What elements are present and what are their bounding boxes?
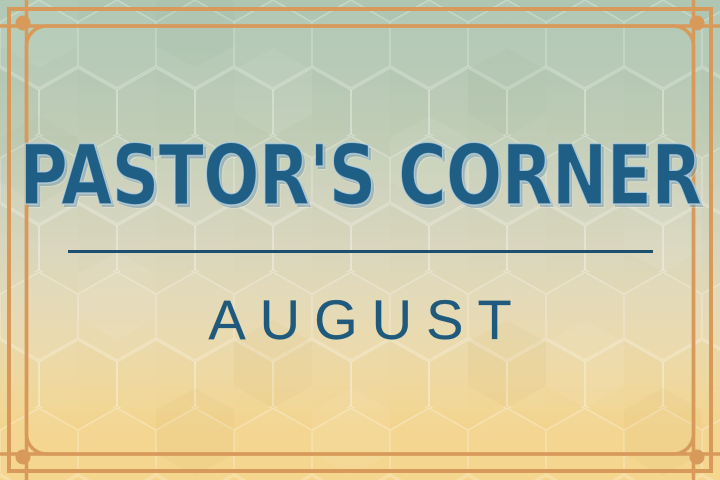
title-divider bbox=[68, 250, 653, 253]
month-label: AUGUST bbox=[194, 287, 525, 352]
pastors-corner-banner: PASTOR'S CORNER PASTOR'S CORNER AUGUST bbox=[0, 0, 720, 480]
banner-content: PASTOR'S CORNER PASTOR'S CORNER AUGUST bbox=[0, 0, 720, 480]
page-title: PASTOR'S CORNER bbox=[19, 138, 701, 214]
title-block: PASTOR'S CORNER PASTOR'S CORNER bbox=[0, 128, 720, 224]
